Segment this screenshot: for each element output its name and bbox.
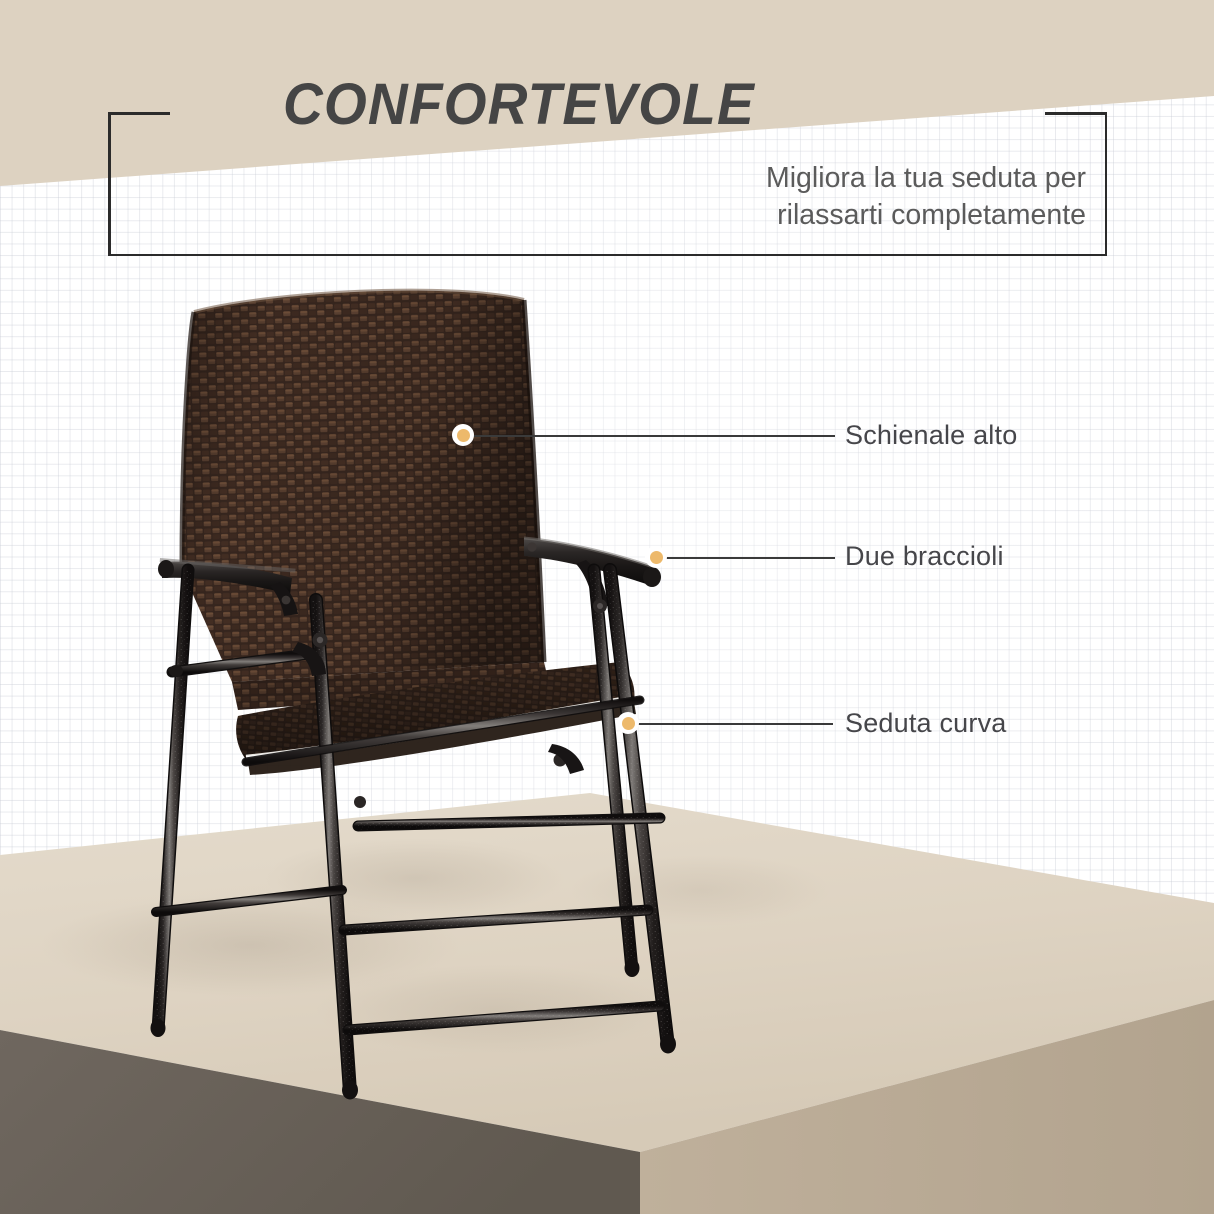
page-subtitle: Migliora la tua seduta per rilassarti co… — [566, 160, 1086, 234]
infographic-canvas: CONFORTEVOLE Migliora la tua seduta per … — [0, 0, 1214, 1214]
chair-frame-rear-left-leg — [158, 570, 188, 1030]
page-title: CONFORTEVOLE — [283, 74, 853, 136]
orange-dot-icon — [457, 429, 470, 442]
subtitle-line-2: rilassarti completamente — [566, 197, 1086, 234]
callout-label-seat: Seduta curva — [845, 708, 1007, 739]
chair-backrest — [182, 291, 544, 682]
callout-dot-marker-armrests — [645, 546, 667, 568]
orange-dot-icon — [650, 551, 663, 564]
chair-frame-mid-front-brace — [344, 910, 648, 930]
frame-top-left-stub — [108, 112, 170, 115]
callout-label-backrest: Schienale alto — [845, 420, 1017, 451]
subtitle-line-1: Migliora la tua seduta per — [566, 160, 1086, 197]
frame-left-edge — [108, 112, 111, 256]
callout-leader-line-armrests — [655, 557, 835, 559]
callout-dot-marker-seat — [617, 712, 639, 734]
frame-bottom-edge — [108, 254, 1107, 257]
frame-right-edge — [1105, 112, 1108, 256]
chair-frame-low-cross-brace-left — [156, 890, 342, 912]
chair-frame-bottom-front-brace — [348, 1006, 660, 1030]
callout-leader-line-seat — [628, 723, 833, 725]
folding-rattan-chair-image — [120, 270, 740, 1100]
orange-dot-icon — [622, 717, 635, 730]
callout-dot-marker-backrest — [452, 424, 474, 446]
frame-top-right-stub — [1045, 112, 1107, 115]
callout-label-armrests: Due braccioli — [845, 541, 1004, 572]
callout-leader-line-backrest — [470, 435, 835, 437]
